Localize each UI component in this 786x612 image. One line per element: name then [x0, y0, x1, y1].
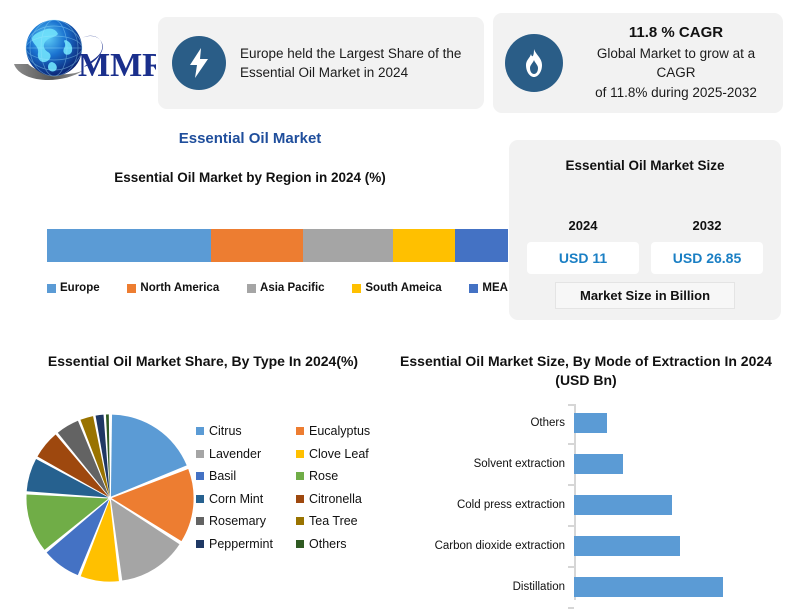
legend-swatch-icon — [196, 517, 204, 525]
cagr-line-1: Global Market to grow at a CAGR — [577, 44, 775, 82]
header-card-region-line-1: Europe held the Largest Share of the — [240, 44, 461, 63]
pie-legend-label: Others — [309, 537, 347, 551]
pie-legend-item: Clove Leaf — [296, 447, 396, 461]
bar-fill — [574, 577, 723, 597]
pie-legend-label: Corn Mint — [209, 492, 263, 506]
bar-chart-row: Cold press extraction — [400, 484, 780, 525]
pie-legend-item: Rose — [296, 469, 396, 483]
bar-axis-tick — [568, 607, 574, 609]
logo-wordmark: MMR — [78, 47, 156, 84]
market-size-value-2032: USD 26.85 — [651, 242, 763, 274]
pie-legend-item: Tea Tree — [296, 514, 396, 528]
pie-legend-label: Rosemary — [209, 514, 266, 528]
region-bar-segment — [211, 229, 303, 262]
bar-chart-row: Solvent extraction — [400, 443, 780, 484]
pie-legend-label: Citronella — [309, 492, 362, 506]
region-legend-label: Europe — [60, 282, 100, 294]
legend-swatch-icon — [196, 427, 204, 435]
market-size-panel: Essential Oil Market Size 2024 2032 USD … — [509, 140, 781, 320]
header-card-region-line-2: Essential Oil Market in 2024 — [240, 63, 461, 82]
pie-legend-label: Lavender — [209, 447, 261, 461]
region-legend-item: North America — [127, 282, 219, 294]
bar-category-label: Carbon dioxide extraction — [400, 540, 574, 552]
extraction-mode-bar-chart: OthersSolvent extractionCold press extra… — [400, 402, 780, 607]
lightning-bolt-icon — [172, 36, 226, 90]
legend-swatch-icon — [296, 517, 304, 525]
cagr-line-2: of 11.8% during 2025-2032 — [577, 83, 775, 102]
legend-swatch-icon — [469, 284, 478, 293]
region-legend-item: MEA — [469, 282, 508, 294]
pie-chart-title: Essential Oil Market Share, By Type In 2… — [18, 352, 388, 371]
region-chart-legend: EuropeNorth AmericaAsia PacificSouth Ame… — [47, 282, 508, 294]
pie-legend-label: Rose — [309, 469, 338, 483]
bar-axis-tick — [568, 404, 574, 406]
pie-legend-label: Citrus — [209, 424, 242, 438]
legend-swatch-icon — [47, 284, 56, 293]
type-share-pie-chart — [24, 408, 196, 584]
pie-legend-item: Citrus — [196, 424, 296, 438]
pie-legend-label: Clove Leaf — [309, 447, 369, 461]
bar-category-label: Others — [400, 417, 574, 429]
legend-swatch-icon — [296, 540, 304, 548]
bar-fill — [574, 413, 607, 433]
bar-chart-row: Distillation — [400, 566, 780, 607]
pie-legend-item: Basil — [196, 469, 296, 483]
header-card-cagr-text: 11.8 % CAGR Global Market to grow at a C… — [563, 24, 783, 101]
legend-swatch-icon — [196, 540, 204, 548]
header-card-region-share: Europe held the Largest Share of the Ess… — [158, 17, 484, 109]
pie-legend-item: Peppermint — [196, 537, 296, 551]
region-bar-segment — [393, 229, 455, 262]
region-chart-title: Essential Oil Market by Region in 2024 (… — [0, 170, 500, 185]
pie-legend-label: Basil — [209, 469, 236, 483]
legend-swatch-icon — [127, 284, 136, 293]
region-legend-item: South Ameica — [352, 282, 441, 294]
region-legend-label: Asia Pacific — [260, 282, 325, 294]
region-legend-label: MEA — [482, 282, 508, 294]
bar-category-label: Solvent extraction — [400, 458, 574, 470]
legend-swatch-icon — [296, 450, 304, 458]
legend-swatch-icon — [352, 284, 361, 293]
bar-category-label: Cold press extraction — [400, 499, 574, 511]
cagr-headline: 11.8 % CAGR — [577, 24, 775, 41]
legend-swatch-icon — [296, 472, 304, 480]
extraction-bar-chart-title: Essential Oil Market Size, By Mode of Ex… — [400, 352, 772, 390]
market-size-year-2024: 2024 — [527, 218, 639, 233]
mmr-logo: MMR — [8, 12, 156, 92]
region-bar-segment — [303, 229, 393, 262]
legend-swatch-icon — [196, 472, 204, 480]
region-legend-item: Europe — [47, 282, 100, 294]
bar-fill — [574, 536, 680, 556]
market-size-unit-label: Market Size in Billion — [555, 282, 735, 309]
page-title: Essential Oil Market — [0, 130, 500, 147]
market-size-value-2024: USD 11 — [527, 242, 639, 274]
pie-legend-label: Eucalyptus — [309, 424, 370, 438]
globe-logo-icon: MMR — [8, 12, 156, 92]
bar-chart-row: Others — [400, 402, 780, 443]
pie-legend-label: Peppermint — [209, 537, 273, 551]
pie-legend-item: Citronella — [296, 492, 396, 506]
legend-swatch-icon — [296, 495, 304, 503]
pie-legend-item: Eucalyptus — [296, 424, 396, 438]
market-size-panel-title: Essential Oil Market Size — [509, 158, 781, 173]
pie-legend-item: Rosemary — [196, 514, 296, 528]
pie-legend-item: Corn Mint — [196, 492, 296, 506]
legend-swatch-icon — [247, 284, 256, 293]
region-bar-segment — [455, 229, 508, 262]
bar-chart-row: Carbon dioxide extraction — [400, 525, 780, 566]
pie-chart-legend: CitrusEucalyptusLavenderClove LeafBasilR… — [196, 424, 396, 551]
pie-legend-item: Others — [296, 537, 396, 551]
bar-fill — [574, 454, 623, 474]
pie-legend-label: Tea Tree — [309, 514, 358, 528]
region-legend-item: Asia Pacific — [247, 282, 325, 294]
header-card-region-text: Europe held the Largest Share of the Ess… — [226, 44, 469, 82]
region-stacked-bar — [47, 229, 508, 262]
region-bar-segment — [47, 229, 211, 262]
legend-swatch-icon — [196, 450, 204, 458]
header-card-cagr: 11.8 % CAGR Global Market to grow at a C… — [493, 13, 783, 113]
pie-legend-item: Lavender — [196, 447, 296, 461]
bar-fill — [574, 495, 672, 515]
legend-swatch-icon — [196, 495, 204, 503]
market-size-year-2032: 2032 — [651, 218, 763, 233]
region-legend-label: South Ameica — [365, 282, 441, 294]
region-legend-label: North America — [140, 282, 219, 294]
legend-swatch-icon — [296, 427, 304, 435]
bar-category-label: Distillation — [400, 581, 574, 593]
flame-icon — [505, 34, 563, 92]
